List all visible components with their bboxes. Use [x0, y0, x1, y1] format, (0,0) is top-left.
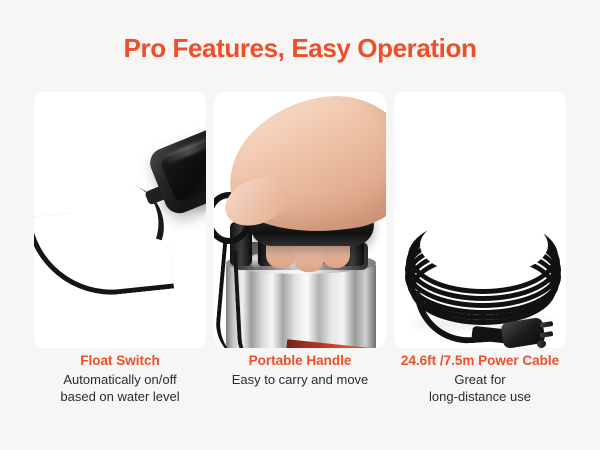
caption-portable-handle: Portable Handle Easy to carry and move: [214, 352, 386, 405]
caption-title: Portable Handle: [214, 352, 386, 370]
caption-description: Easy to carry and move: [214, 371, 386, 388]
caption-title: 24.6ft /7.5m Power Cable: [394, 352, 566, 370]
portable-handle-image: [214, 92, 386, 348]
caption-description-line-1: Great for: [394, 371, 566, 388]
caption-description-line-1: Automatically on/off: [34, 371, 206, 388]
caption-description: Automatically on/off based on water leve…: [34, 371, 206, 405]
caption-float-switch: Float Switch Automatically on/off based …: [34, 352, 206, 405]
feature-card-float-switch[interactable]: [34, 92, 206, 348]
power-cable-image: [394, 92, 566, 348]
caption-power-cable: 24.6ft /7.5m Power Cable Great for long-…: [394, 352, 566, 405]
feature-infographic: { "title": "Pro Features, Easy Operation…: [0, 0, 600, 450]
plug-prong-two: [540, 331, 554, 338]
plug-ground-prong: [536, 339, 546, 348]
caption-title: Float Switch: [34, 352, 206, 370]
caption-description-line-1: Easy to carry and move: [214, 371, 386, 388]
caption-description-line-2: long-distance use: [394, 388, 566, 405]
caption-description-line-2: based on water level: [34, 388, 206, 405]
feature-card-row: [34, 92, 566, 348]
feature-caption-row: Float Switch Automatically on/off based …: [34, 352, 566, 405]
page-title: Pro Features, Easy Operation: [0, 33, 600, 64]
feature-card-power-cable[interactable]: [394, 92, 566, 348]
cable-coil-inner-gap: [420, 214, 548, 276]
plug-prong-one: [540, 321, 554, 328]
float-switch-image: [34, 92, 206, 348]
feature-card-portable-handle[interactable]: [214, 92, 386, 348]
caption-description: Great for long-distance use: [394, 371, 566, 405]
